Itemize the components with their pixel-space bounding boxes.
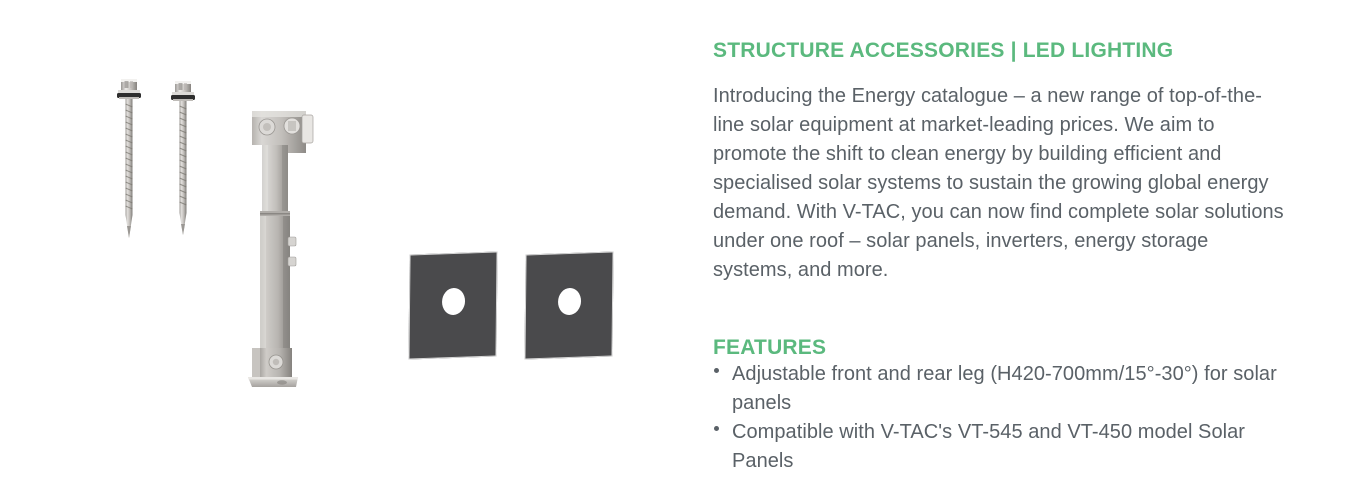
features-list: Adjustable front and rear leg (H420-700m… — [710, 360, 1295, 476]
intro-paragraph: Introducing the Energy catalogue – a new… — [713, 82, 1289, 285]
features-title: FEATURES — [713, 336, 826, 360]
catalogue-page: STRUCTURE ACCESSORIES | LED LIGHTING Int… — [0, 0, 1349, 504]
pad-hole — [442, 288, 465, 316]
content-panel: STRUCTURE ACCESSORIES | LED LIGHTING Int… — [713, 0, 1313, 504]
bullet-icon — [714, 368, 719, 373]
self-tapping-screw-2-icon — [170, 80, 196, 242]
self-tapping-screw-1-icon — [116, 78, 142, 240]
rubber-sealing-pad-2 — [524, 251, 613, 359]
product-image-panel — [0, 0, 690, 504]
adjustable-leg-bracket-icon — [240, 105, 350, 390]
feature-text: Adjustable front and rear leg (H420-700m… — [732, 363, 1277, 414]
section-title: STRUCTURE ACCESSORIES | LED LIGHTING — [713, 39, 1173, 63]
feature-list-item: Compatible with V-TAC's VT-545 and VT-45… — [710, 418, 1295, 476]
rubber-sealing-pad-1 — [408, 251, 497, 359]
pad-hole — [558, 288, 581, 316]
bullet-icon — [714, 426, 719, 431]
feature-text: Compatible with V-TAC's VT-545 and VT-45… — [732, 421, 1245, 472]
feature-list-item: Adjustable front and rear leg (H420-700m… — [710, 360, 1295, 418]
